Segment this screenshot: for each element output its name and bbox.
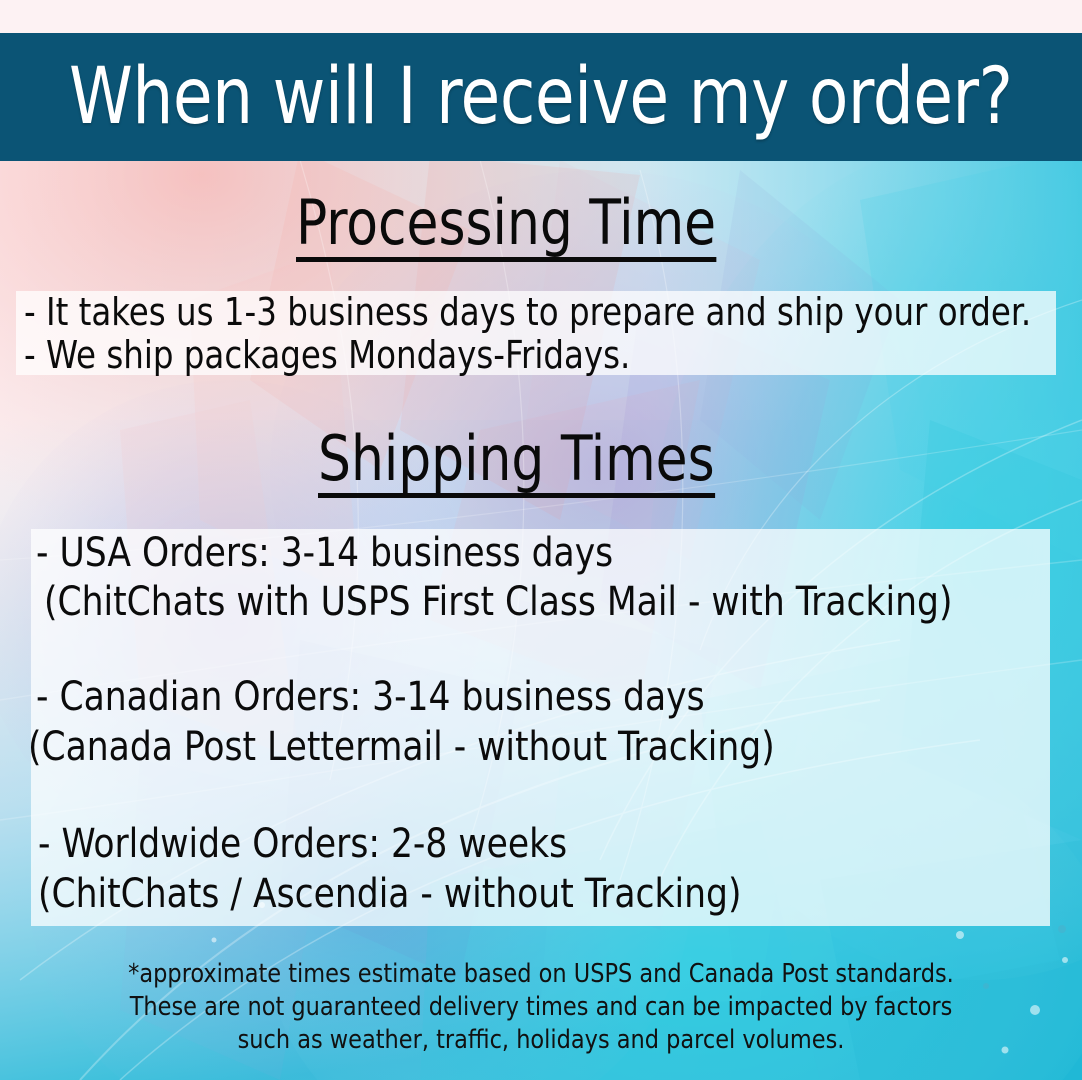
processing-time-line-2: - We ship packages Mondays-Fridays.: [24, 336, 630, 374]
usa-orders-detail: (ChitChats with USPS First Class Mail - …: [44, 582, 952, 622]
canadian-orders-title: - Canadian Orders: 3-14 business days: [36, 677, 705, 717]
processing-time-line-1: - It takes us 1-3 business days to prepa…: [24, 293, 1031, 331]
shipping-times-heading: Shipping Times: [318, 428, 715, 498]
footnote-line-1: *approximate times estimate based on USP…: [22, 958, 1061, 991]
footnote-disclaimer: *approximate times estimate based on USP…: [0, 958, 1082, 1057]
canadian-orders-detail: (Canada Post Lettermail - without Tracki…: [28, 727, 775, 767]
footnote-line-3: such as weather, traffic, holidays and p…: [22, 1024, 1061, 1057]
top-margin-strip: [0, 0, 1082, 33]
worldwide-orders-detail: (ChitChats / Ascendia - without Tracking…: [38, 874, 741, 914]
shipping-info-poster: When will I receive my order? Processing…: [0, 0, 1082, 1080]
usa-orders-title: - USA Orders: 3-14 business days: [36, 533, 613, 573]
processing-time-heading: Processing Time: [296, 192, 716, 262]
page-title: When will I receive my order?: [69, 58, 1012, 136]
worldwide-orders-title: - Worldwide Orders: 2-8 weeks: [38, 824, 567, 864]
header-banner: When will I receive my order?: [0, 33, 1082, 161]
footnote-line-2: These are not guaranteed delivery times …: [22, 991, 1061, 1024]
